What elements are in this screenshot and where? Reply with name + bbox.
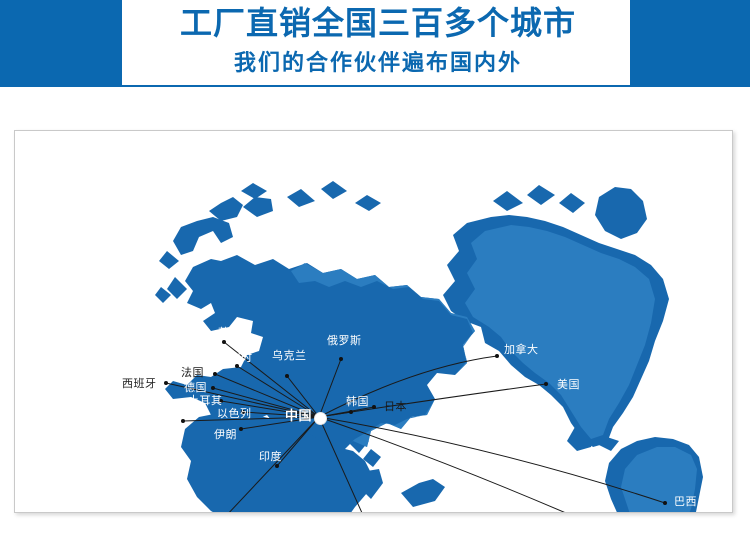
endpoint-dot [339, 357, 343, 361]
endpoint-dot [235, 364, 239, 368]
endpoint-dot [663, 501, 667, 505]
endpoint-dot [213, 372, 217, 376]
page-subtitle: 我们的合作伙伴遍布国内外 [122, 48, 634, 78]
north-island-1 [159, 251, 179, 269]
na-arctic-island-3 [559, 193, 585, 213]
endpoint-dot [211, 386, 215, 390]
endpoint-dot [275, 464, 279, 468]
header-left-bar [0, 0, 120, 87]
north-cap-1 [209, 197, 243, 221]
endpoint-dot [222, 340, 226, 344]
endpoint-dot [239, 427, 243, 431]
header-right-bar [632, 0, 750, 87]
endpoint-dot [495, 354, 499, 358]
endpoint-dot [219, 399, 223, 403]
page-header: 工厂直销全国三百多个城市 我们的合作伙伴遍布国内外 [0, 0, 750, 113]
na-arctic-island-1 [493, 191, 523, 211]
scandinavia [173, 217, 233, 255]
endpoint-dot [241, 410, 245, 414]
world-map-graphic [15, 131, 732, 512]
page-title: 工厂直销全国三百多个城市 [122, 2, 634, 44]
papua-new-guinea [401, 479, 445, 507]
endpoint-dot [544, 382, 548, 386]
endpoint-dot [372, 405, 376, 409]
endpoint-dot [181, 419, 185, 423]
greenland [595, 187, 647, 239]
arctic-island-1 [287, 189, 315, 207]
arctic-island-2 [321, 181, 347, 199]
header-title-box: 工厂直销全国三百多个城市 我们的合作伙伴遍布国内外 [120, 0, 632, 87]
endpoint-dot [349, 410, 353, 414]
world-map-panel: 中国 荷兰 比利时 法国 西班牙 德国 土耳其 以色列 埃及 伊朗 印度 乌克兰… [14, 130, 733, 513]
endpoint-dot [164, 381, 168, 385]
endpoint-dot [285, 374, 289, 378]
na-arctic-island-2 [527, 185, 555, 205]
north-cap-2 [243, 197, 273, 217]
north-sea-island [241, 183, 267, 199]
hub-marker-china [314, 412, 327, 425]
arctic-island-3 [355, 195, 381, 211]
